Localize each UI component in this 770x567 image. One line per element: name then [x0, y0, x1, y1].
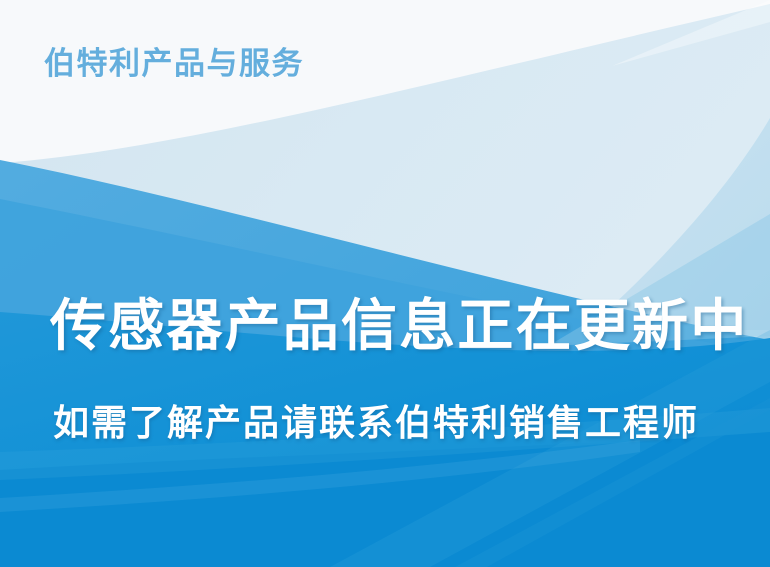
background-graphic [0, 0, 770, 567]
promo-banner: 伯特利产品与服务 传感器产品信息正在更新中 如需了解产品请联系伯特利销售工程师 [0, 0, 770, 567]
